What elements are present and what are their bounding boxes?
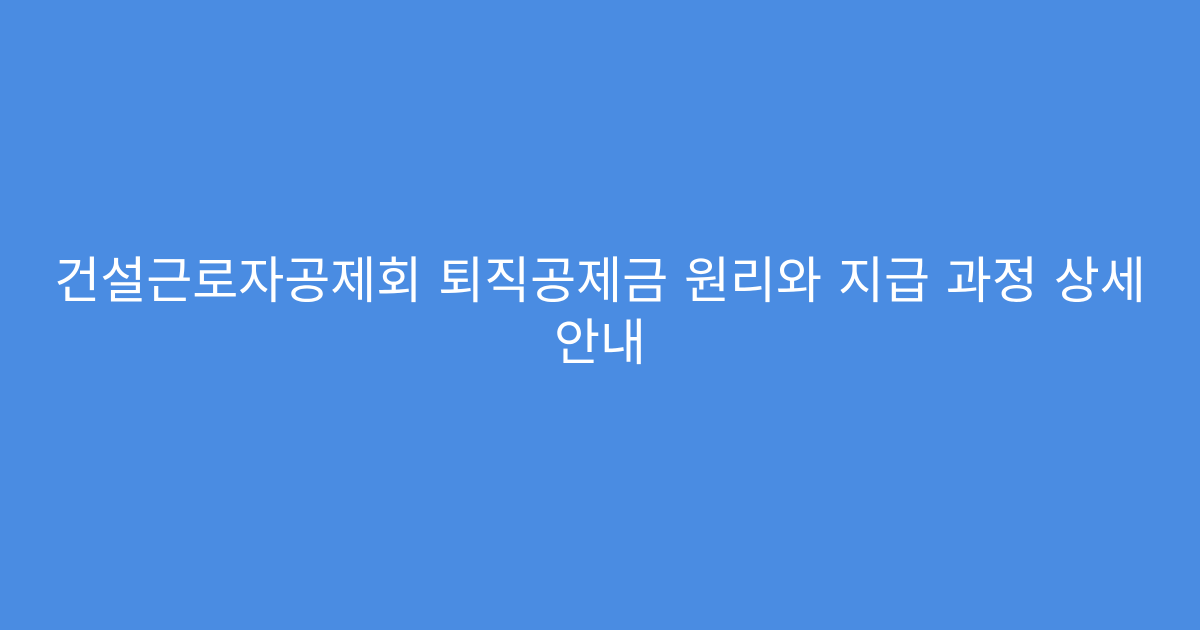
share-card-canvas: 건설근로자공제회 퇴직공제금 원리와 지급 과정 상세 안내 [0,0,1200,630]
page-title: 건설근로자공제회 퇴직공제금 원리와 지급 과정 상세 안내 [0,250,1200,374]
card-content-block: 건설근로자공제회 퇴직공제금 원리와 지급 과정 상세 안내 [0,250,1200,374]
